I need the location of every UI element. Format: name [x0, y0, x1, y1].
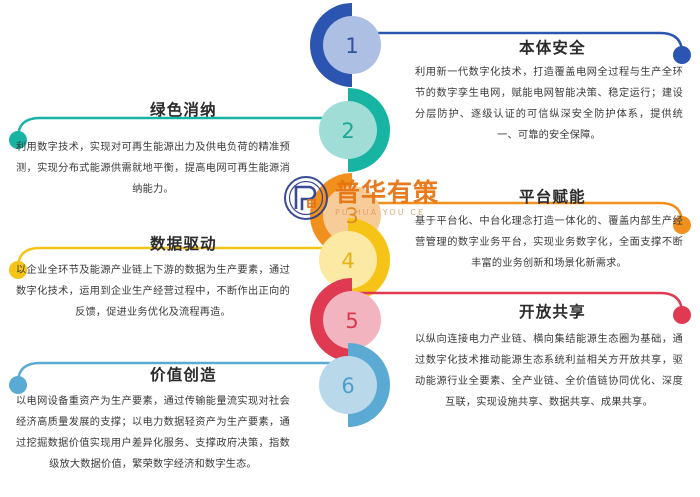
step-1-connector-line [352, 33, 682, 53]
step-2-number: 2 [328, 121, 368, 142]
step-4-title: 数据驱动 [150, 232, 217, 254]
step-3-number: 3 [332, 206, 372, 227]
watermark-cn: 普华有策 [335, 180, 439, 205]
step-5-title: 开放共享 [519, 300, 586, 322]
step-1-number: 1 [332, 36, 372, 57]
infographic-canvas: 1 2 3 4 5 6 本体安全 利用新一代数字化技术，打造覆盖电网全过程与生产… [0, 0, 700, 497]
step-1-body: 利用新一代数字化技术，打造覆盖电网全过程与生产全环节的数字孪生电网，赋能电网智能… [415, 63, 683, 147]
step-5-number: 5 [332, 311, 372, 332]
step-5-connector-line [352, 293, 682, 313]
step-3-title: 平台赋能 [519, 185, 586, 207]
step-6-title: 价值创造 [150, 363, 217, 385]
step-4-body: 以企业全环节及能源产业链上下游的数据为生产要素，通过数字化技术，运用到企业生产经… [16, 261, 290, 324]
step-2-title: 绿色消纳 [150, 98, 217, 120]
step-5-connector-dot [673, 306, 691, 324]
step-2-connector-line [18, 118, 348, 138]
step-4-number: 4 [328, 251, 368, 272]
step-1-connector-dot [673, 46, 691, 64]
step-6-number: 6 [328, 376, 368, 397]
step-6-body: 以电网设备重资产为生产要素，通过传输能量流实现对社会经济高质量发展的支撑；以电力… [16, 392, 290, 476]
step-3-body: 基于平台化、中台化理念打造一体化的、覆盖内部生产经营管理的数字业务平台，实现业务… [415, 212, 683, 275]
step-5-body: 以纵向连接电力产业链、横向集结能源生态圈为基础，通过数字化技术推动能源生态系统利… [415, 330, 683, 414]
step-2-body: 利用数字技术，实现对可再生能源出力及供电负荷的精准预测，实现分布式能源供需就地平… [16, 138, 290, 201]
step-1-title: 本体安全 [519, 36, 586, 58]
